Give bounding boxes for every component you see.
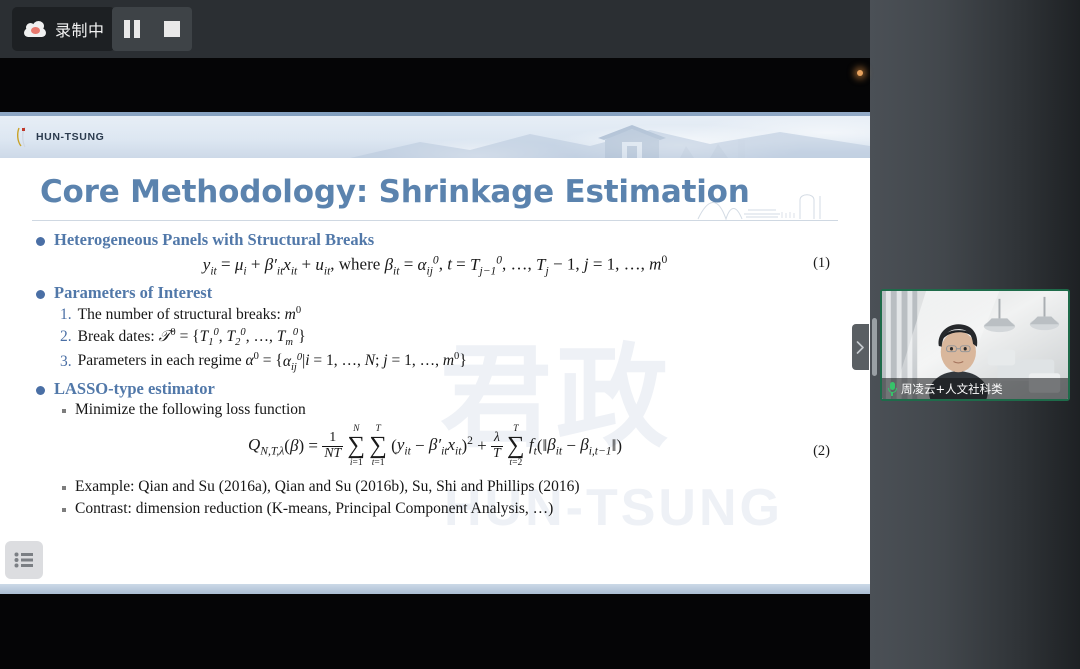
numbered-item-1: 1. The number of structural breaks: m0 <box>60 305 870 324</box>
item-text: Parameters in each regime <box>78 353 242 370</box>
chevron-right-icon[interactable] <box>852 324 869 370</box>
square-bullet-icon <box>62 409 66 413</box>
sub-item-text: Minimize the following loss function <box>75 401 306 419</box>
bullet-label: Heterogeneous Panels with Structural Bre… <box>54 230 374 250</box>
letterbox-bottom <box>0 594 870 669</box>
equation-2-number: (2) <box>813 443 830 460</box>
participant-name-bar: 周凌云+人文社科类 <box>882 378 1068 399</box>
square-bullet-icon <box>62 508 66 512</box>
sub-item-contrast: Contrast: dimension reduction (K-means, … <box>62 500 870 518</box>
slide-body: Heterogeneous Panels with Structural Bre… <box>0 230 870 522</box>
chun-tsung-emblem-icon <box>16 126 33 148</box>
item-text: Break dates: <box>78 328 155 345</box>
bullet-heterogeneous-panels: Heterogeneous Panels with Structural Bre… <box>36 230 870 250</box>
bullet-label: Parameters of Interest <box>54 283 212 303</box>
sub-item-minimize: Minimize the following loss function <box>62 401 870 419</box>
slide-title: Core Methodology: Shrinkage Estimation <box>40 174 750 210</box>
bullet-parameters-of-interest: Parameters of Interest <box>36 283 870 303</box>
title-underline <box>32 220 838 221</box>
recording-status-label: 录制中 <box>55 17 105 41</box>
banner-mountain-temple-illustration <box>350 116 870 158</box>
slide-logo: HUN-TSUNG <box>16 126 104 148</box>
item-text: The number of structural breaks: <box>78 306 281 323</box>
recording-controls <box>112 7 192 51</box>
bullet-label: LASSO-type estimator <box>54 379 215 399</box>
vertical-scrollbar[interactable] <box>872 318 877 376</box>
sub-item-text: Contrast: dimension reduction (K-means, … <box>75 500 553 518</box>
list-view-icon[interactable] <box>5 541 43 579</box>
sub-item-text: Example: Qian and Su (2016a), Qian and S… <box>75 478 580 496</box>
presentation-slide[interactable]: HUN-TSUNG 君政 HUN-TSUNG Core Methodology:… <box>0 112 870 594</box>
letterbox-top <box>0 58 870 112</box>
equation-1-number: (1) <box>813 255 830 272</box>
pause-icon[interactable] <box>124 20 140 38</box>
numbered-item-3: 3. Parameters in each regime α0 = {αij0|… <box>60 351 870 372</box>
equation-1: yit = μi + β′itxit + uit, where βit = αi… <box>0 253 870 277</box>
bullet-lasso-estimator: LASSO-type estimator <box>36 379 870 399</box>
square-bullet-icon <box>62 486 66 490</box>
screen-share-stage: 录制中 <box>0 0 870 669</box>
equation-2-row: QN,T,λ(β) = 1NT N∑i=1 T∑t=1 (yit − β′itx… <box>0 425 870 469</box>
cloud-record-icon <box>24 22 46 37</box>
recording-status-pill: 录制中 <box>12 7 115 51</box>
participant-name: 周凌云+人文社科类 <box>901 381 1003 397</box>
equation-1-row: yit = μi + β′itxit + uit, where βit = αi… <box>0 253 870 277</box>
title-line-art-decoration <box>696 190 836 220</box>
item-number: 1. <box>60 306 72 324</box>
stop-icon[interactable] <box>164 21 180 37</box>
microphone-active-icon <box>887 382 897 396</box>
status-light-indicator <box>857 70 863 76</box>
recording-toolbar: 录制中 <box>0 0 870 58</box>
sub-item-example: Example: Qian and Su (2016a), Qian and S… <box>62 478 870 496</box>
slide-footer-bar <box>0 584 870 594</box>
slide-header-banner <box>0 116 870 158</box>
meeting-window: 录制中 <box>0 0 1080 669</box>
bullet-dot-icon <box>36 290 45 299</box>
bullet-dot-icon <box>36 237 45 246</box>
participant-video-tile[interactable]: 周凌云+人文社科类 <box>880 289 1070 401</box>
equation-2: QN,T,λ(β) = 1NT N∑i=1 T∑t=1 (yit − β′itx… <box>0 425 870 469</box>
bullet-dot-icon <box>36 386 45 395</box>
slide-logo-text: HUN-TSUNG <box>36 131 104 143</box>
item-number: 2. <box>60 328 72 346</box>
numbered-item-2: 2. Break dates: 𝒯0 = {T10, T20, …, Tm0} <box>60 327 870 348</box>
item-number: 3. <box>60 353 72 371</box>
